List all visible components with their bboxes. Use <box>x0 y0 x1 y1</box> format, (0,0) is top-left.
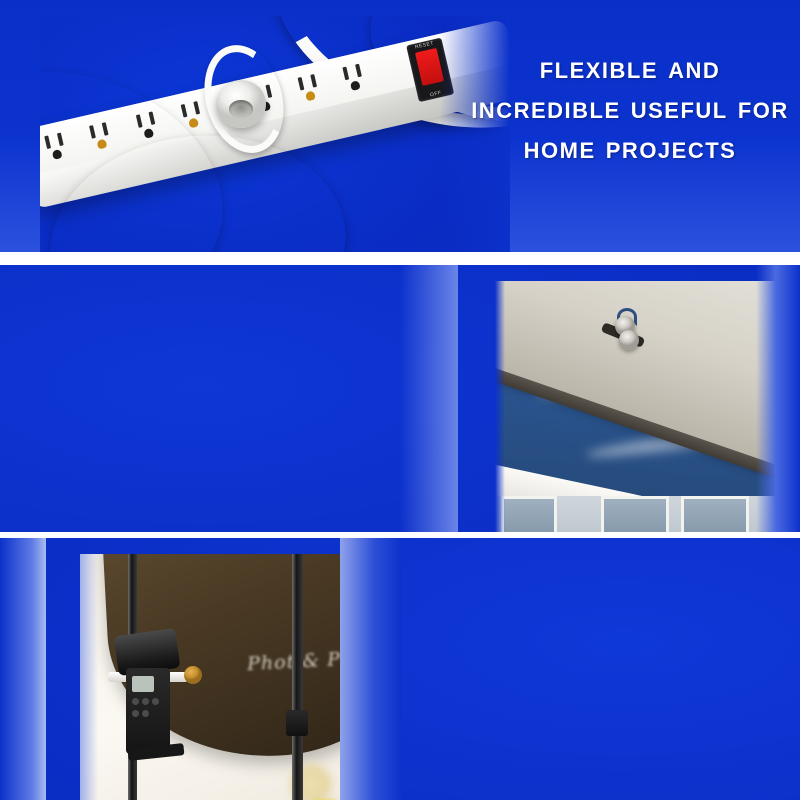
cable-tie-hole <box>229 100 253 118</box>
tarp-canopy-photo <box>495 281 800 532</box>
building-facade <box>495 496 800 532</box>
cable-tie-clip <box>208 56 274 136</box>
flash-button <box>132 698 139 705</box>
window-pane <box>681 496 749 532</box>
ball-bungee-clip <box>613 308 639 354</box>
panel-2-photo-left-glow <box>400 265 458 532</box>
flash-button <box>132 710 139 717</box>
background-lamp-glow <box>276 758 346 800</box>
feature-panel-2: Securing Tarps, Canopy & tents <box>0 265 800 532</box>
outlet <box>335 58 381 96</box>
outlet <box>290 68 336 106</box>
panel-3-photo-right-glow <box>340 538 402 800</box>
umbrella-shaft <box>292 554 303 800</box>
feature-collage: RESET OFF Flexible and incredible useful… <box>0 0 800 800</box>
panel-2-right-glow <box>756 265 800 532</box>
feature-panel-1: RESET OFF Flexible and incredible useful… <box>0 0 800 252</box>
flash-lcd-screen <box>132 676 154 692</box>
speedlight-flash <box>126 642 172 758</box>
window-pane <box>601 496 669 532</box>
flash-button <box>142 698 149 705</box>
feature-panel-3: Phot & Phot The <box>0 538 800 800</box>
bungee-ball <box>619 330 639 350</box>
photo-left-fade <box>495 281 505 532</box>
shaft-locking-collar <box>286 710 308 736</box>
power-strip-photo: RESET OFF <box>40 16 510 252</box>
panel-3-left-glow <box>0 538 46 800</box>
flash-button <box>152 698 159 705</box>
flash-button <box>142 710 149 717</box>
photo-left-fade <box>80 554 98 800</box>
panel-1-headline: Flexible and incredible useful for home … <box>470 48 790 169</box>
bracket-tightening-knob <box>184 666 202 684</box>
window-pane <box>501 496 557 532</box>
